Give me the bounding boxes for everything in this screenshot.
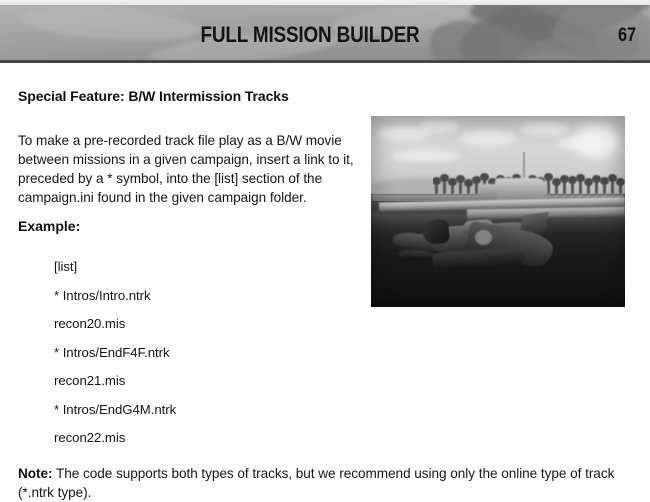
screenshot-cloud <box>459 130 517 146</box>
screenshot-cloud <box>419 120 459 133</box>
game-screenshot-image <box>371 116 625 307</box>
screenshot-sun-glare <box>573 124 619 158</box>
example-code-listing: [list] * Intros/Intro.ntrk recon20.mis *… <box>54 253 354 453</box>
page-title: FULL MISSION BUILDER <box>43 24 576 46</box>
screenshot-cloud <box>521 122 569 136</box>
screenshot-plane-roundel <box>475 230 492 245</box>
code-line: [list] <box>54 253 354 282</box>
example-heading: Example: <box>18 218 80 234</box>
code-line: * Intros/EndF4F.ntrk <box>54 339 354 368</box>
page-header-banner: FULL MISSION BUILDER 67 <box>0 0 650 63</box>
note-block: Note: The code supports both types of tr… <box>18 464 634 502</box>
screenshot-cloud <box>391 150 461 162</box>
section-subheading: Special Feature: B/W Intermission Tracks <box>18 88 289 104</box>
note-text: The code supports both types of tracks, … <box>18 466 614 500</box>
page-number: 67 <box>618 26 636 45</box>
code-line: * Intros/Intro.ntrk <box>54 282 354 311</box>
code-line: recon20.mis <box>54 310 354 339</box>
note-label: Note: <box>18 466 53 481</box>
screenshot-vessel-mast <box>523 152 525 180</box>
code-line: recon21.mis <box>54 367 354 396</box>
intro-paragraph: To make a pre-recorded track file play a… <box>18 131 356 207</box>
code-line: * Intros/EndG4M.ntrk <box>54 396 354 425</box>
code-line: recon22.mis <box>54 424 354 453</box>
